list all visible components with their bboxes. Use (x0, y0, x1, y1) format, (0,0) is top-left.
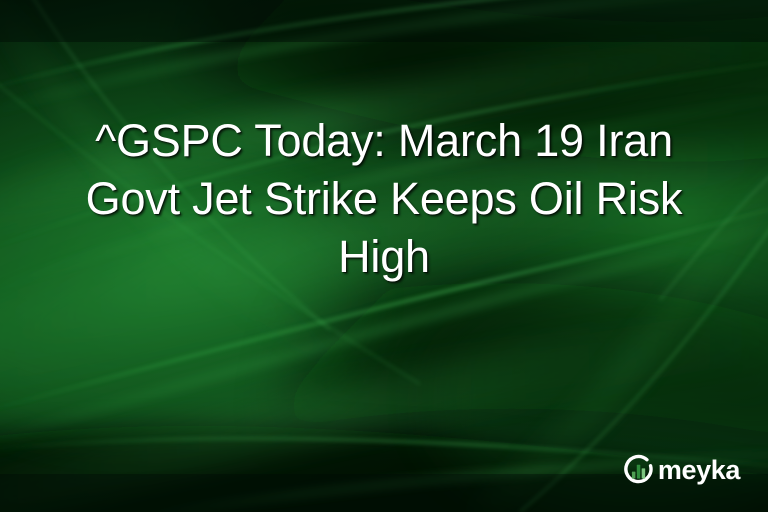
meyka-logo[interactable]: meyka (622, 453, 740, 486)
headline-line-1: ^GSPC Today: March 19 Iran (34, 112, 734, 170)
meyka-wordmark: meyka (658, 457, 740, 484)
headline-line-2: Govt Jet Strike Keeps Oil Risk (34, 170, 734, 228)
headline-line-3: High (34, 228, 734, 286)
meyka-circular-bar-chart-icon (622, 453, 655, 486)
share-card: ^GSPC Today: March 19 Iran Govt Jet Stri… (0, 0, 768, 512)
headline: ^GSPC Today: March 19 Iran Govt Jet Stri… (0, 112, 768, 286)
